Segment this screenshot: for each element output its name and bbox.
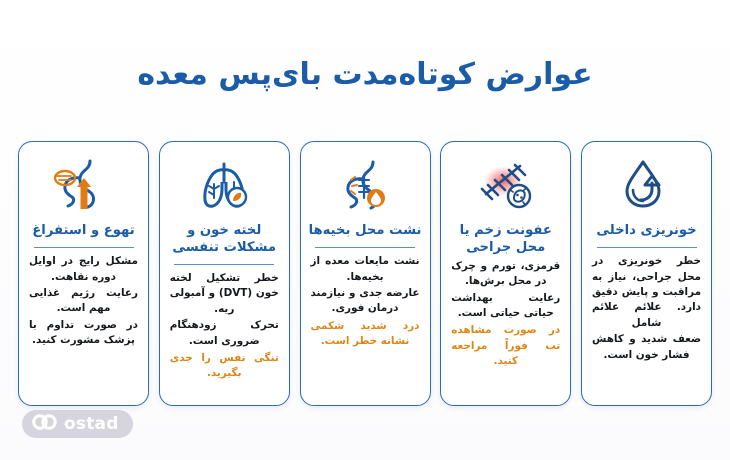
body-line: قرمزی، تورم و چرک در محل برش‌ها.	[451, 259, 560, 290]
body-line: رعایت رژیم غذایی مهم است.	[29, 286, 138, 317]
cards-row: تهوع و استفراغ مشکل رایج در اوایل دوره ن…	[18, 141, 712, 406]
card-heading: عفونت زخم یا محل جراحی	[449, 222, 562, 257]
card-nausea-vomiting[interactable]: تهوع و استفراغ مشکل رایج در اوایل دوره ن…	[18, 141, 149, 406]
heading-divider	[315, 247, 415, 248]
card-heading: تهوع و استفراغ	[32, 222, 134, 240]
stomach-leak-drop-icon	[329, 154, 401, 216]
title-area: عوارض کوتاه‌مدت بای‌پس معده	[0, 56, 730, 94]
card-wound-infection[interactable]: عفونت زخم یا محل جراحی قرمزی، تورم و چرک…	[440, 141, 571, 406]
body-line: رعایت بهداشت حیاتی حیاتی است.	[451, 291, 560, 322]
card-body: خطر تشکیل لخته خون (DVT) و آمبولی ریه. ت…	[168, 271, 281, 350]
card-body: مشکل رایج در اوایل دوره نقاهت. رعایت رژی…	[27, 254, 140, 349]
card-warning: تنگی نفس را جدی بگیرید.	[168, 351, 281, 382]
sutures-bacteria-icon	[470, 154, 542, 216]
card-heading: خونریزی داخلی	[596, 222, 696, 240]
ostad-rings-icon	[32, 414, 58, 434]
card-warning: در صورت مشاهده تب فوراً مراجعه کنید.	[449, 323, 562, 369]
body-line: خطر تشکیل لخته خون (DVT) و آمبولی ریه.	[170, 271, 279, 317]
card-internal-bleeding[interactable]: خونریزی داخلی خطر خونریزی در محل جراحی، …	[581, 141, 712, 406]
card-heading: نشت محل بخیه‌ها	[309, 222, 422, 240]
blood-drop-arrow-icon	[611, 154, 683, 216]
lungs-clot-icon	[188, 154, 260, 216]
heading-divider	[174, 264, 274, 265]
heading-divider	[34, 247, 134, 248]
body-line: عارضه جدی و نیازمند درمان فوری.	[311, 286, 420, 317]
stomach-up-arrow-icon	[48, 154, 120, 216]
infographic-page: عوارض کوتاه‌مدت بای‌پس معده تهوع و استفر…	[0, 0, 730, 460]
body-line: نشت مایعات معده از بخیه‌ها.	[311, 254, 420, 285]
heading-divider	[597, 247, 697, 248]
card-warning: درد شدید شکمی نشانه خطر است.	[309, 319, 422, 350]
ostad-logo[interactable]: ostad	[22, 410, 133, 438]
card-suture-leak[interactable]: نشت محل بخیه‌ها نشت مایعات معده از بخیه‌…	[300, 141, 431, 406]
body-line: ضعف شدید و کاهش فشار خون است.	[592, 332, 701, 363]
card-body: نشت مایعات معده از بخیه‌ها. عارضه جدی و …	[309, 254, 422, 318]
body-line: خطر خونریزی در محل جراحی، نیاز به مراقبت…	[592, 254, 701, 331]
page-title: عوارض کوتاه‌مدت بای‌پس معده	[0, 56, 730, 94]
body-line: در صورت تداوم با پزشک مشورت کنید.	[29, 318, 138, 349]
ostad-logo-text: ostad	[64, 416, 119, 433]
card-heading: لخته خون و مشکلات تنفسی	[168, 222, 281, 257]
card-body: قرمزی، تورم و چرک در محل برش‌ها. رعایت ب…	[449, 259, 562, 323]
card-body: خطر خونریزی در محل جراحی، نیاز به مراقبت…	[590, 254, 703, 364]
body-line: تحرک زودهنگام ضروری است.	[170, 318, 279, 349]
card-blood-clot-breathing[interactable]: لخته خون و مشکلات تنفسی خطر تشکیل لخته خ…	[159, 141, 290, 406]
body-line: مشکل رایج در اوایل دوره نقاهت.	[29, 254, 138, 285]
